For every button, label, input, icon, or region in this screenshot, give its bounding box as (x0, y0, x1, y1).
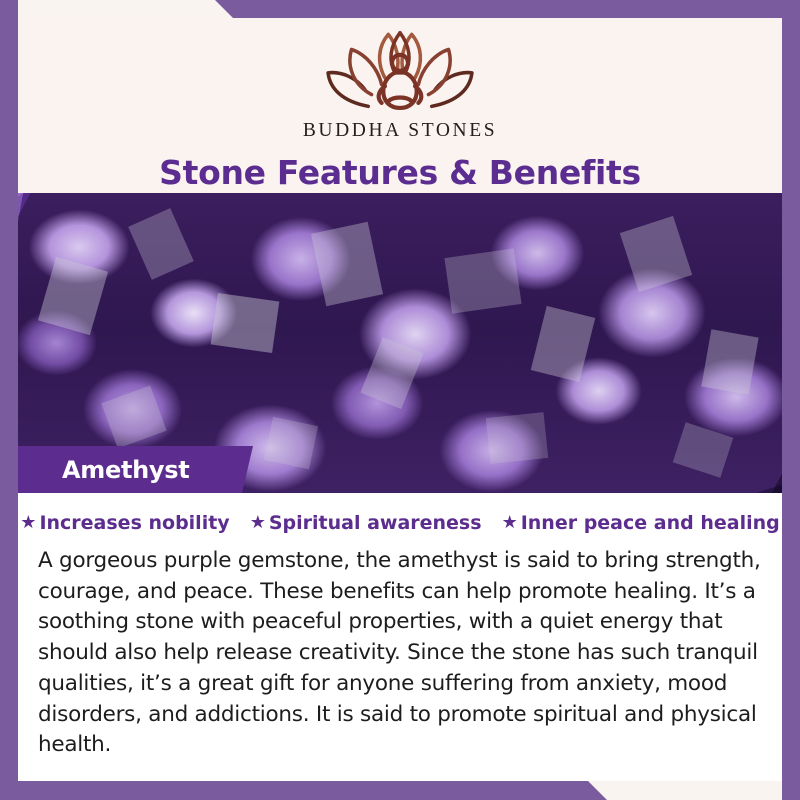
stone-description: A gorgeous purple gemstone, the amethyst… (34, 546, 766, 761)
stone-name-label: Amethyst (62, 456, 189, 484)
stone-name-banner: Amethyst (18, 446, 253, 493)
page-title: Stone Features & Benefits (159, 153, 641, 192)
page-inner-card: BUDDHA STONES Stone Features & Benefits (18, 18, 782, 781)
infographic-page: BUDDHA STONES Stone Features & Benefits (0, 0, 800, 800)
benefits-list: ★ Increases nobility ★ Spiritual awarene… (34, 512, 766, 534)
benefit-label-3: Inner peace and healing (521, 512, 780, 534)
benefit-label-1: Increases nobility (39, 512, 229, 534)
benefit-item-2: ★ Spiritual awareness (250, 512, 482, 534)
benefit-label-2: Spiritual awareness (269, 512, 482, 534)
benefit-item-1: ★ Increases nobility (20, 512, 229, 534)
brand-logo: BUDDHA STONES (18, 26, 782, 142)
star-icon: ★ (20, 514, 36, 532)
frame-top-accent (0, 0, 800, 18)
frame-bottom-accent (0, 781, 800, 800)
star-icon: ★ (250, 514, 266, 532)
star-icon: ★ (502, 514, 518, 532)
benefit-item-3: ★ Inner peace and healing (502, 512, 780, 534)
hero-image-section: Amethyst (18, 193, 782, 493)
content-section: ★ Increases nobility ★ Spiritual awarene… (18, 493, 782, 761)
header-section: BUDDHA STONES Stone Features & Benefits (18, 18, 782, 193)
frame-right-accent (782, 0, 800, 800)
brand-name: BUDDHA STONES (303, 120, 497, 142)
lotus-meditation-icon (316, 26, 484, 118)
frame-left-accent (0, 0, 18, 800)
